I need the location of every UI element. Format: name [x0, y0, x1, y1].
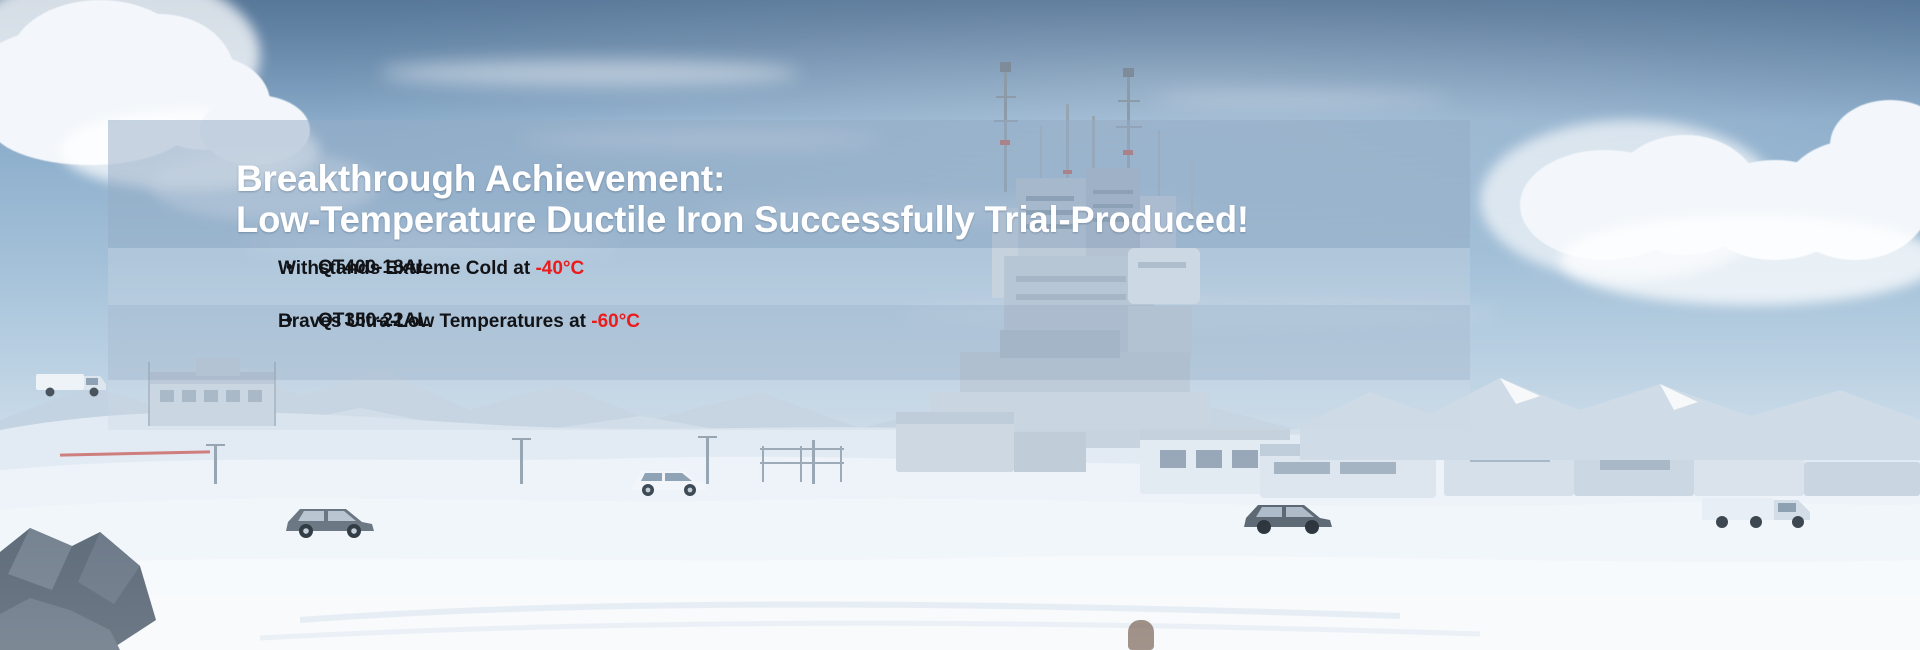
- feature-1-temperature: -40°C: [535, 258, 584, 279]
- bullet-marker-icon: •: [286, 309, 293, 332]
- feature-2-description: Braves Ultra-Low Temperatures at -60°C: [108, 309, 1470, 334]
- feature-1-code: QT400-18AL: [318, 256, 429, 279]
- feature-2-code: QT350-22AL: [318, 309, 429, 332]
- feature-2-temperature: -60°C: [591, 311, 640, 332]
- bullet-marker-icon: •: [286, 256, 293, 279]
- feature-list: • QT400-18AL Withstands Extreme Cold at …: [108, 256, 1470, 334]
- feature-item-2: • QT350-22AL Braves Ultra-Low Temperatur…: [108, 309, 1470, 334]
- headline-line-2: Low-Temperature Ductile Iron Successfull…: [236, 199, 1448, 240]
- figure-silhouette: [1128, 620, 1154, 650]
- banner-headline: Breakthrough Achievement: Low-Temperatur…: [236, 158, 1466, 240]
- feature-item-1: • QT400-18AL Withstands Extreme Cold at …: [108, 256, 1470, 281]
- banner-image: Breakthrough Achievement: Low-Temperatur…: [0, 0, 1920, 650]
- feature-1-description: Withstands Extreme Cold at -40°C: [108, 256, 1470, 281]
- overlay-band-lower: [108, 380, 1470, 430]
- text-overlay-panel: Breakthrough Achievement: Low-Temperatur…: [108, 120, 1470, 430]
- headline-line-1: Breakthrough Achievement:: [236, 158, 1466, 199]
